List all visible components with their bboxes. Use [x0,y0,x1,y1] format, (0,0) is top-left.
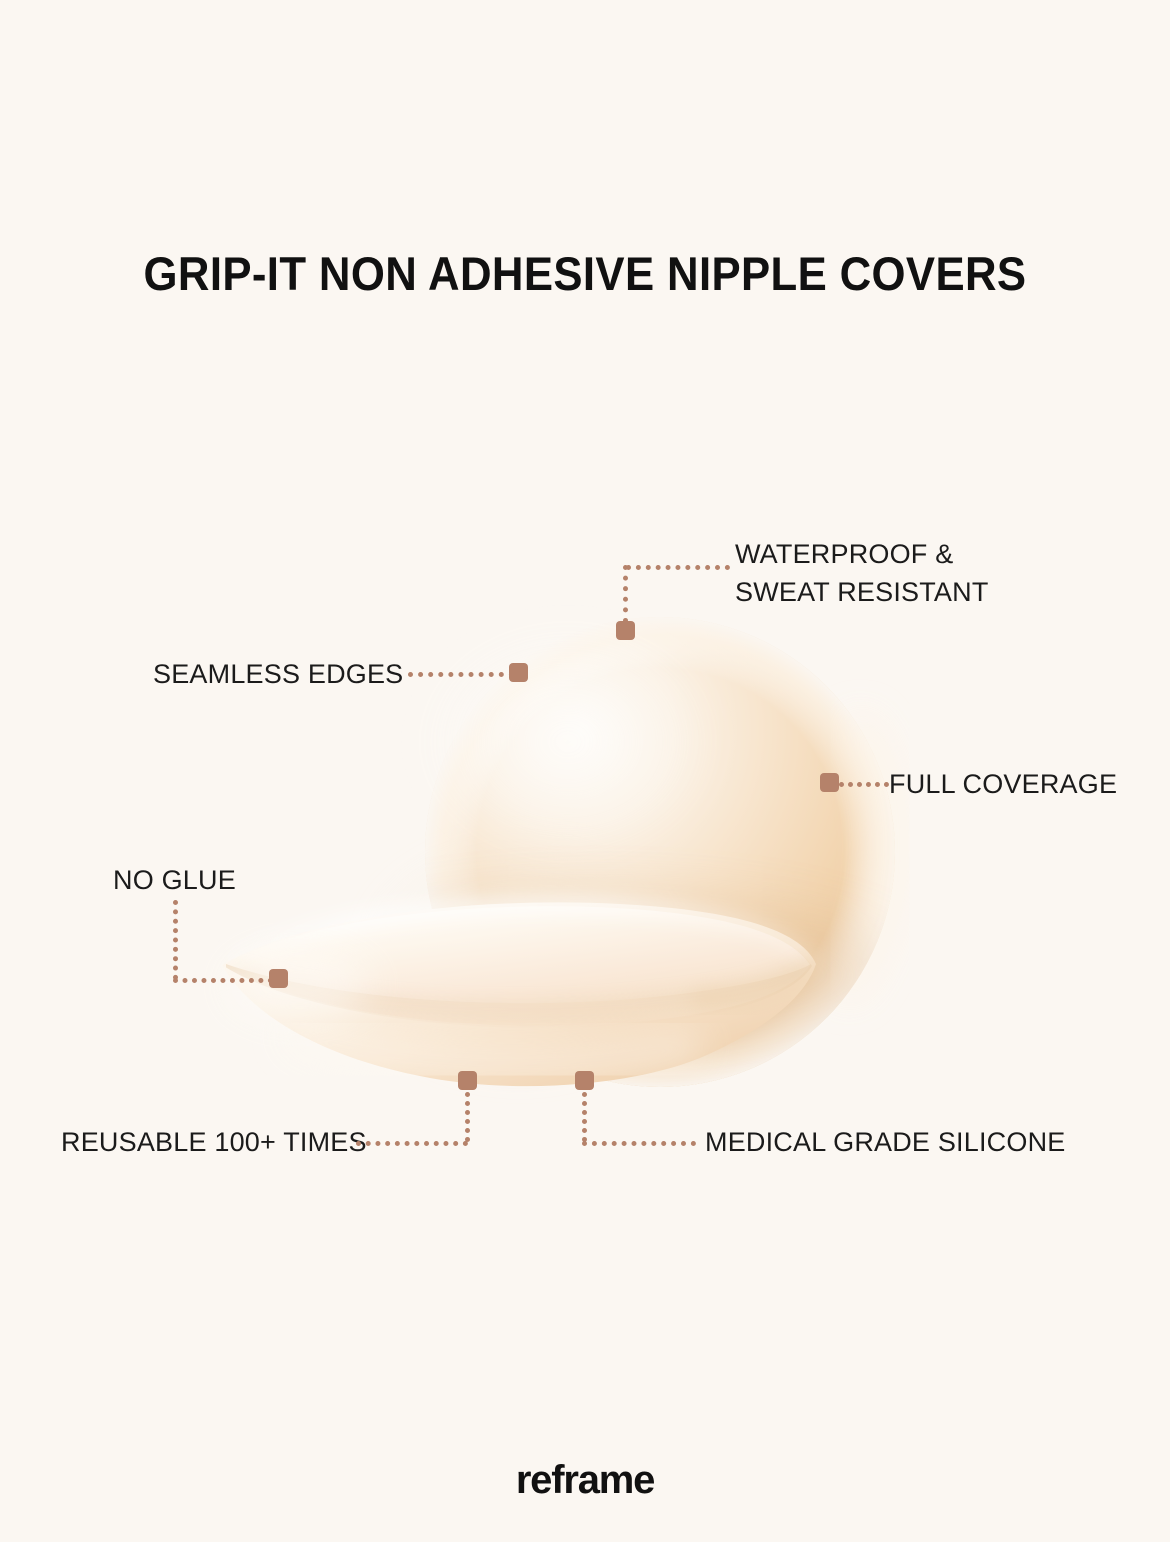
marker-medical-grade-silicone[interactable] [575,1071,594,1090]
marker-full-coverage[interactable] [820,773,839,792]
product-infographic-poster: GRIP-IT NON ADHESIVE NIPPLE COVERS [0,0,1170,1542]
leader-line-medical-horizontal [582,1141,696,1146]
callout-label-no-glue: NO GLUE [113,862,236,899]
product-front-cup [222,902,816,1086]
leader-line-full-coverage [839,782,889,787]
marker-reusable-100-times[interactable] [458,1071,477,1090]
page-title: GRIP-IT NON ADHESIVE NIPPLE COVERS [41,246,1129,301]
marker-seamless-edges[interactable] [509,663,528,682]
brand-wordmark: reframe [0,1458,1170,1503]
product-back-dome [390,617,895,1087]
callout-line-1: WATERPROOF & [735,535,989,573]
leader-line-waterproof-horizontal [626,565,730,570]
leader-line-no-glue-vertical [173,900,178,980]
callout-label-full-coverage: FULL COVERAGE [889,766,1117,803]
leader-line-reusable-vertical [465,1092,470,1142]
leader-line-seamless-edges [408,672,514,677]
marker-waterproof-sweat-resistant[interactable] [616,621,635,640]
callout-label-seamless-edges: SEAMLESS EDGES [153,656,403,693]
leader-line-no-glue-horizontal [173,978,273,983]
callout-label-reusable-100-times: REUSABLE 100+ TIMES [61,1124,367,1161]
leader-line-waterproof-vertical [623,565,628,623]
marker-no-glue[interactable] [269,969,288,988]
callout-label-medical-grade-silicone: MEDICAL GRADE SILICONE [705,1124,1065,1161]
leader-line-reusable-horizontal [356,1141,468,1146]
leader-line-medical-vertical [582,1092,587,1142]
cup-cast-shadow [300,905,900,1045]
callout-label-waterproof-sweat-resistant: WATERPROOF & SWEAT RESISTANT [735,535,989,611]
callout-line-2: SWEAT RESISTANT [735,573,989,611]
